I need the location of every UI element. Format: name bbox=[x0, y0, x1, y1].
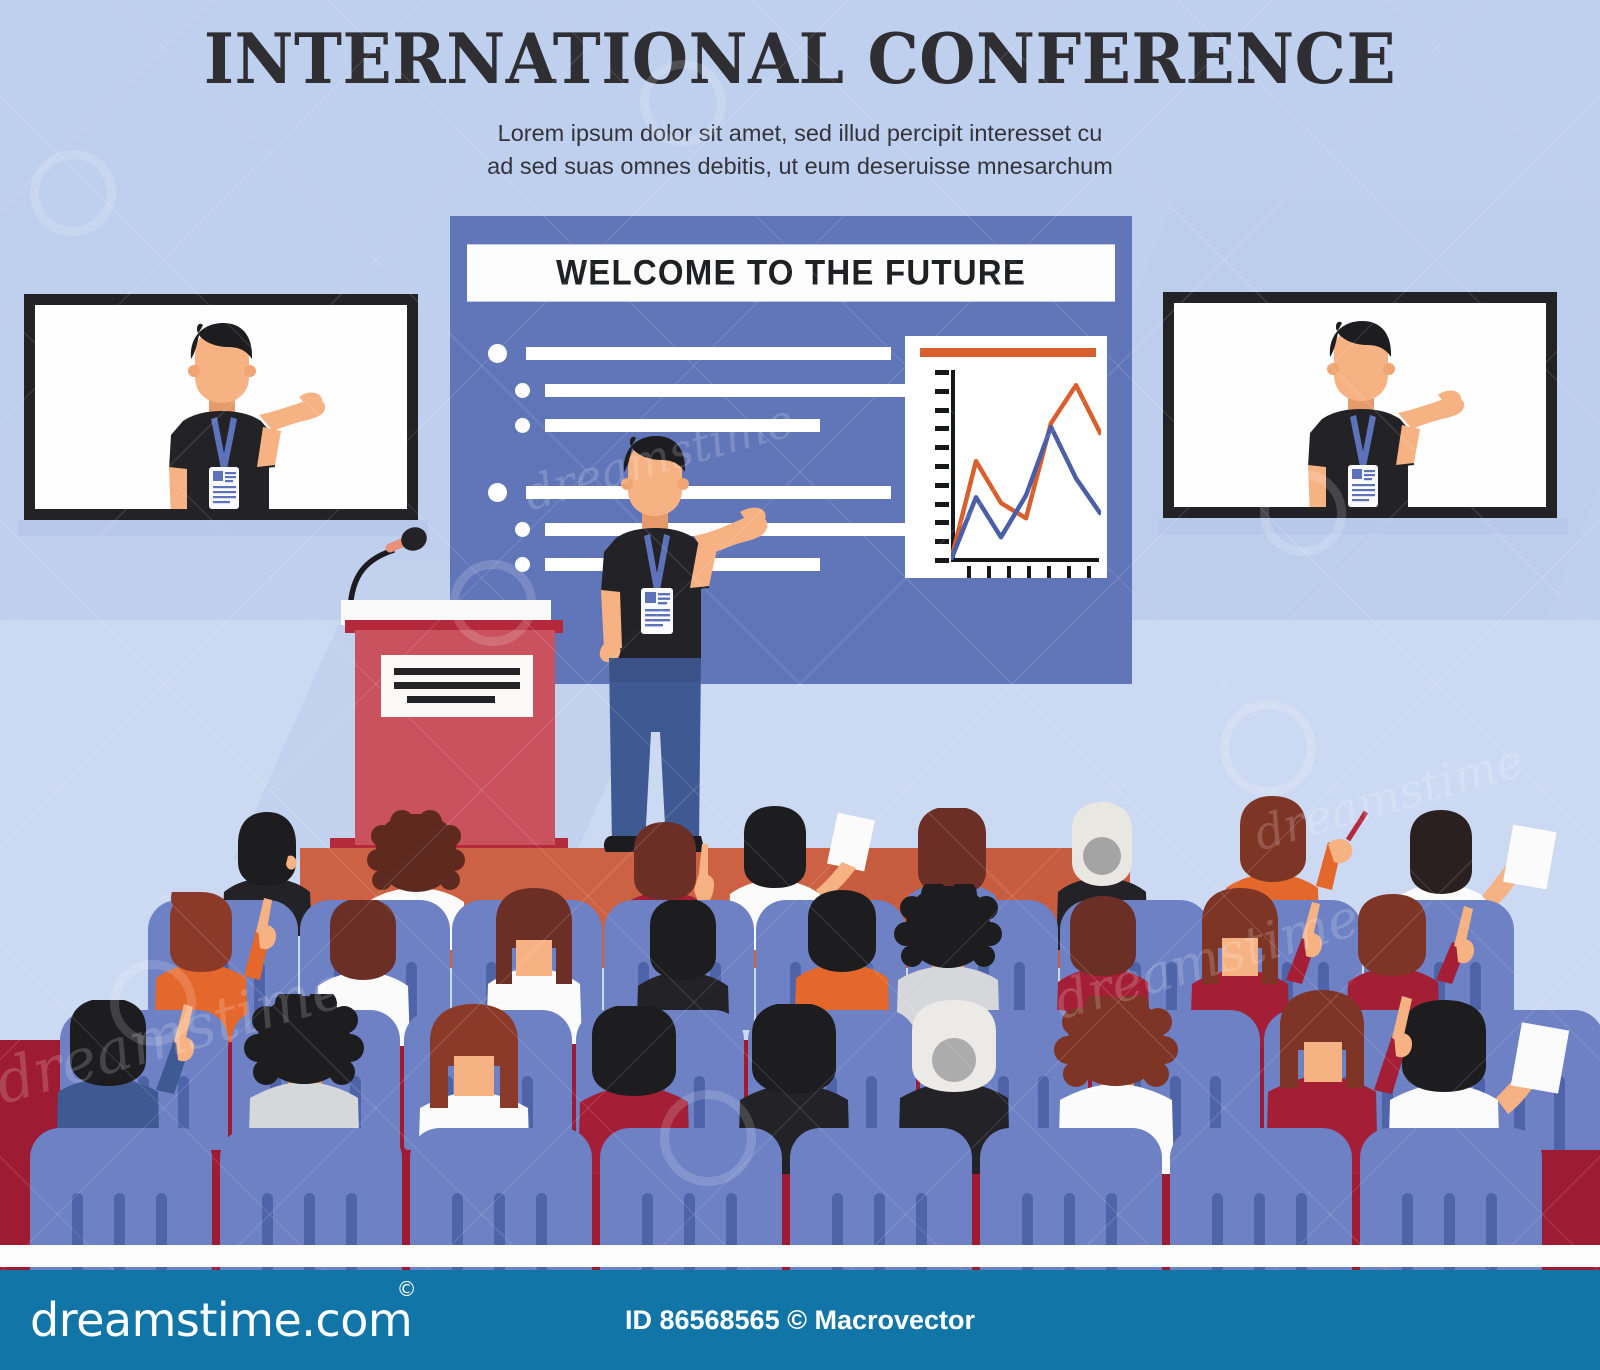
registered-mark-icon: © bbox=[397, 1277, 417, 1301]
image-credit: ID 86568565 © Macrovector bbox=[0, 1305, 1600, 1336]
floor-rail bbox=[0, 1245, 1600, 1267]
poster-canvas: INTERNATIONAL CONFERENCE Lorem ipsum dol… bbox=[0, 0, 1600, 1370]
seat-row-3 bbox=[0, 0, 1600, 1370]
footer-bar: dreamstime.com © ID 86568565 © Macrovect… bbox=[0, 1270, 1600, 1370]
